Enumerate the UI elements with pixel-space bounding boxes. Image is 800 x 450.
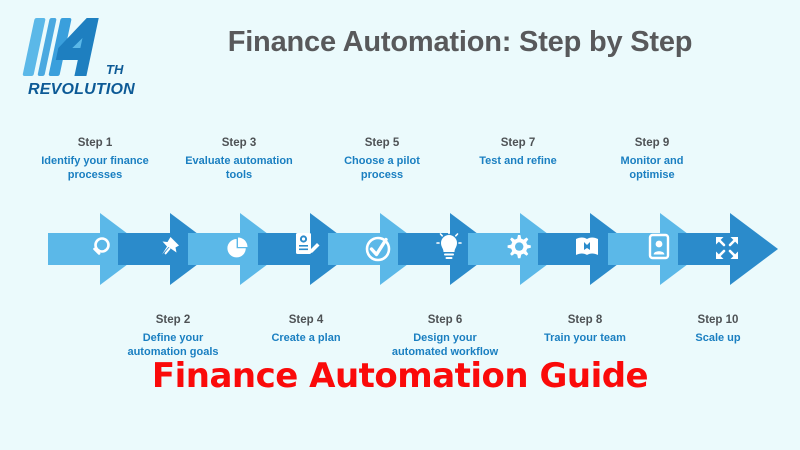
- step-desc-5: Choose a pilot process: [325, 154, 439, 182]
- step-desc-3: Evaluate automation tools: [177, 154, 301, 182]
- step-desc-8: Train your team: [527, 331, 643, 345]
- step-number-4: Step 4: [249, 313, 363, 328]
- step-desc-7: Test and refine: [460, 154, 576, 168]
- step-label-9: Step 9 Monitor and optimise: [597, 136, 707, 182]
- step-desc-4: Create a plan: [249, 331, 363, 345]
- process-arrow-strip: [0, 205, 800, 305]
- gear-icon: [508, 235, 531, 258]
- brand-logo: TH REVOLUTION: [22, 12, 142, 100]
- page-title: Finance Automation: Step by Step: [150, 26, 770, 59]
- step-desc-1: Identify your finance processes: [35, 154, 155, 182]
- logo-wordmark: REVOLUTION: [28, 81, 135, 98]
- step-desc-2: Define your automation goals: [116, 331, 230, 359]
- step-number-7: Step 7: [460, 136, 576, 151]
- step-desc-9: Monitor and optimise: [597, 154, 707, 182]
- step-desc-10: Scale up: [663, 331, 773, 345]
- header: TH REVOLUTION Finance Automation: Step b…: [0, 0, 800, 110]
- step-label-4: Step 4 Create a plan: [249, 313, 363, 345]
- step-label-3: Step 3 Evaluate automation tools: [177, 136, 301, 182]
- step-number-8: Step 8: [527, 313, 643, 328]
- step-label-6: Step 6 Design your automated workflow: [388, 313, 502, 359]
- overlay-watermark-title: Finance Automation Guide: [0, 356, 800, 396]
- step-label-7: Step 7 Test and refine: [460, 136, 576, 168]
- step-number-10: Step 10: [663, 313, 773, 328]
- step-label-1: Step 1 Identify your finance processes: [35, 136, 155, 182]
- step-number-5: Step 5: [325, 136, 439, 151]
- step-number-3: Step 3: [177, 136, 301, 151]
- step-number-2: Step 2: [116, 313, 230, 328]
- step-label-8: Step 8 Train your team: [527, 313, 643, 345]
- step-label-2: Step 2 Define your automation goals: [116, 313, 230, 359]
- logo-superscript: TH: [106, 62, 124, 77]
- step-number-9: Step 9: [597, 136, 707, 151]
- step-label-10: Step 10 Scale up: [663, 313, 773, 345]
- step-number-1: Step 1: [35, 136, 155, 151]
- step-desc-6: Design your automated workflow: [388, 331, 502, 359]
- logo-mark-icon: TH REVOLUTION: [22, 12, 142, 100]
- arrow-step-10[interactable]: [678, 213, 778, 285]
- open-book-icon: [576, 238, 598, 256]
- step-label-5: Step 5 Choose a pilot process: [325, 136, 439, 182]
- step-number-6: Step 6: [388, 313, 502, 328]
